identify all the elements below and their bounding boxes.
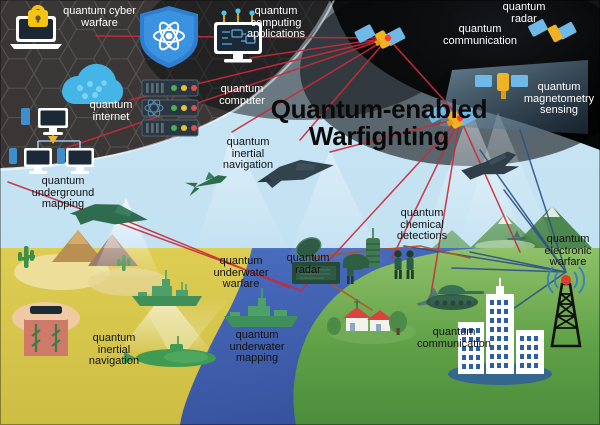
quantum-warfighting-infographic: Quantum-enabled Warfighting quantum cybe… xyxy=(0,0,600,425)
laser-node xyxy=(385,35,391,41)
page-title: Quantum-enabled Warfighting xyxy=(268,96,490,150)
server-rack-icon xyxy=(142,80,198,136)
infographic-canvas xyxy=(0,0,600,425)
